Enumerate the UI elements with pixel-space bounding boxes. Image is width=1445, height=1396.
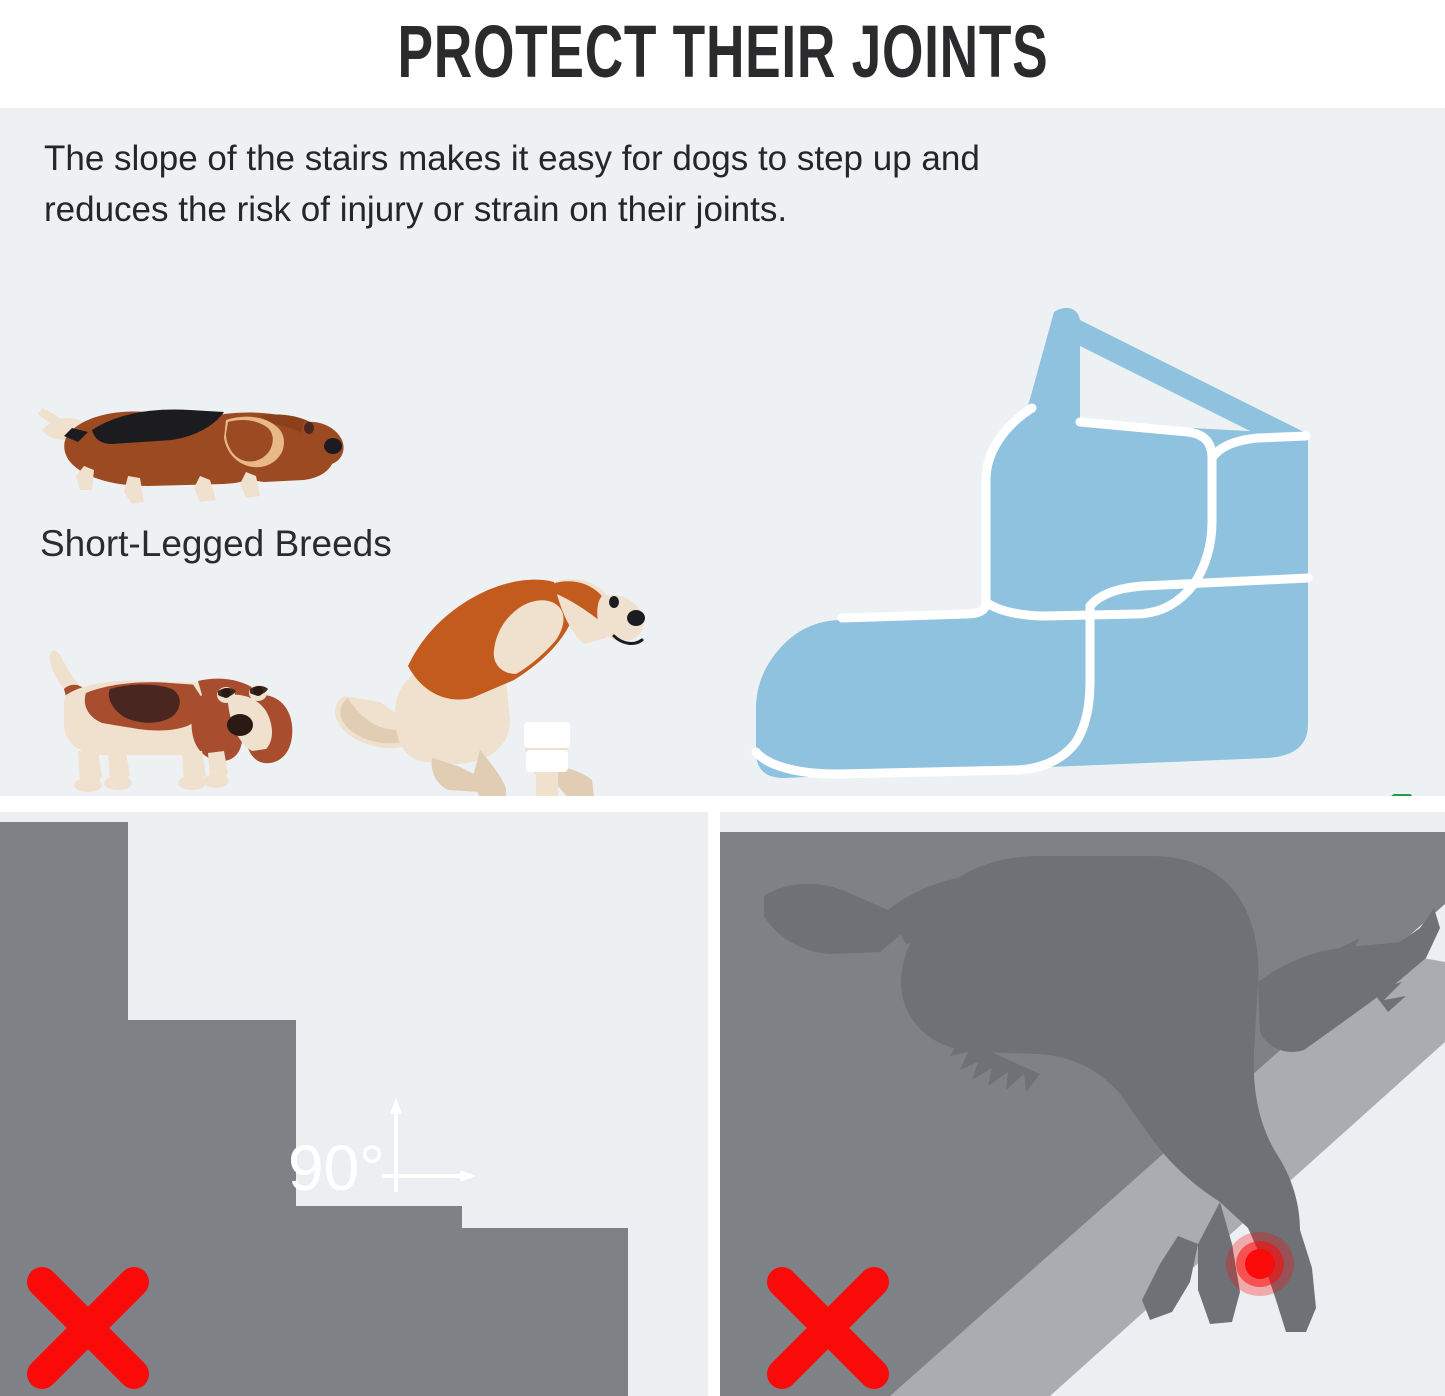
intro-line-1: The slope of the stairs makes it easy fo… xyxy=(44,134,1054,185)
intro-line-2: reduces the risk of injury or strain on … xyxy=(44,185,1054,236)
caption-short-legged-breeds: Short-Legged Breeds xyxy=(40,523,392,565)
dachshund-dog-illustration xyxy=(28,370,358,505)
blue-foam-pet-stairs-illustration xyxy=(718,284,1418,796)
sitting-dog-with-bandage-illustration xyxy=(330,570,660,796)
red-x-icon xyxy=(0,812,708,1396)
intro-paragraph: The slope of the stairs makes it easy fo… xyxy=(44,134,1054,236)
basset-hound-dog-illustration xyxy=(30,633,330,796)
steep-stairs-panel: 90° xyxy=(0,812,708,1396)
page-title: PROTECT THEIR JOINTS xyxy=(397,15,1048,89)
infographic-root: PROTECT THEIR JOINTS The slope of the st… xyxy=(0,0,1445,1396)
green-checkmark-icon xyxy=(1252,794,1417,796)
header-bar: PROTECT THEIR JOINTS xyxy=(0,0,1445,104)
benefits-panel: The slope of the stairs makes it easy fo… xyxy=(0,108,1445,796)
red-x-icon xyxy=(720,812,1445,1396)
jumping-dog-panel xyxy=(720,812,1445,1396)
